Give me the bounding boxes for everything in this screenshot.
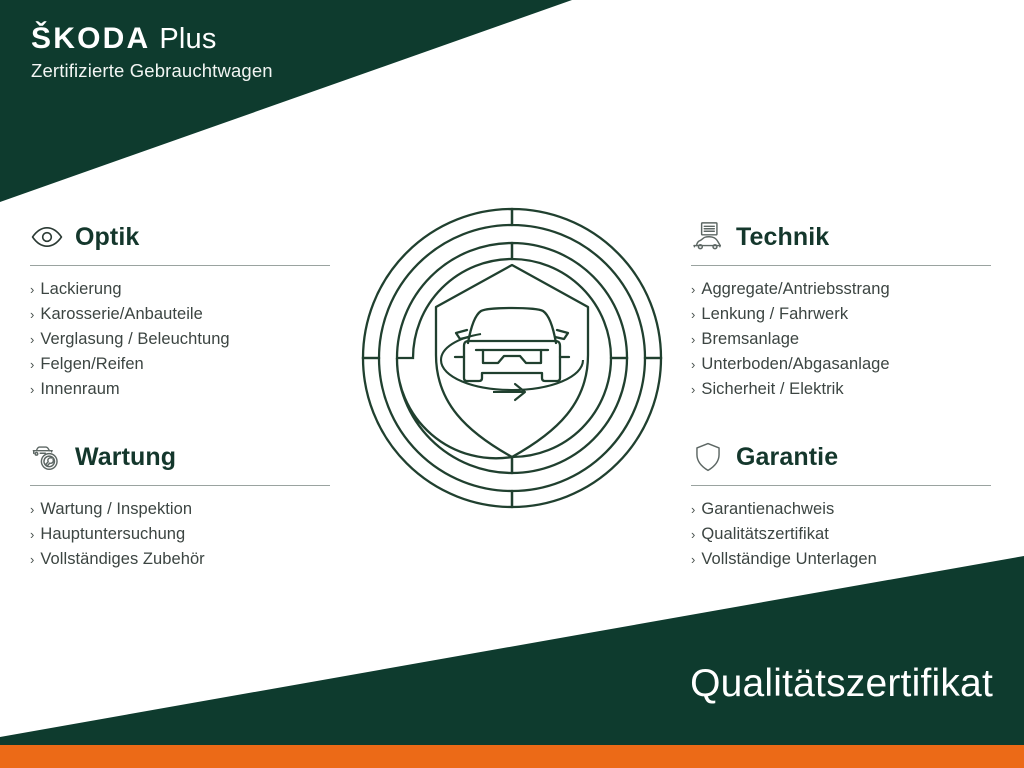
shield-icon xyxy=(691,440,725,474)
list-item: ›Innenraum xyxy=(30,377,333,402)
car-document-icon xyxy=(691,220,725,254)
list-item-label: Vollständiges Zubehör xyxy=(40,547,204,572)
section-title: Garantie xyxy=(736,445,838,470)
section-header: Optik xyxy=(30,216,333,258)
list-item: ›Aggregate/Antriebsstrang xyxy=(691,277,994,302)
list-item: ›Bremsanlage xyxy=(691,327,994,352)
chevron-right-icon: › xyxy=(691,522,695,547)
certified-vehicle-emblem xyxy=(352,198,672,518)
chevron-right-icon: › xyxy=(691,547,695,572)
section-garantie: Garantie ›Garantienachweis ›Qualitätszer… xyxy=(691,436,994,572)
chevron-right-icon: › xyxy=(30,497,34,522)
list-item-label: Qualitätszertifikat xyxy=(701,522,829,547)
orange-footer-bar xyxy=(0,745,1024,768)
section-list: ›Garantienachweis ›Qualitätszertifikat ›… xyxy=(691,497,994,572)
brand-wordmark-row: ŠKODA Plus xyxy=(31,24,273,54)
list-item-label: Unterboden/Abgasanlage xyxy=(701,352,889,377)
list-item: ›Felgen/Reifen xyxy=(30,352,333,377)
section-divider xyxy=(30,265,330,266)
list-item-label: Wartung / Inspektion xyxy=(40,497,192,522)
chevron-right-icon: › xyxy=(691,377,695,402)
list-item-label: Felgen/Reifen xyxy=(40,352,143,377)
list-item: ›Qualitätszertifikat xyxy=(691,522,994,547)
list-item-label: Lenkung / Fahrwerk xyxy=(701,302,848,327)
list-item: ›Hauptuntersuchung xyxy=(30,522,333,547)
chevron-right-icon: › xyxy=(691,277,695,302)
section-header: Technik xyxy=(691,216,994,258)
section-title: Optik xyxy=(75,225,139,250)
list-item-label: Innenraum xyxy=(40,377,119,402)
chevron-right-icon: › xyxy=(691,352,695,377)
chevron-right-icon: › xyxy=(30,277,34,302)
car-wrench-icon xyxy=(30,440,64,474)
section-technik: Technik ›Aggregate/Antriebsstrang ›Lenku… xyxy=(691,216,994,402)
list-item-label: Aggregate/Antriebsstrang xyxy=(701,277,889,302)
section-divider xyxy=(691,265,991,266)
brand-logo: ŠKODA Plus Zertifizierte Gebrauchtwagen xyxy=(31,24,273,81)
list-item-label: Vollständige Unterlagen xyxy=(701,547,876,572)
list-item: ›Garantienachweis xyxy=(691,497,994,522)
section-title: Wartung xyxy=(75,445,176,470)
section-header: Wartung xyxy=(30,436,333,478)
chevron-right-icon: › xyxy=(691,497,695,522)
section-list: ›Aggregate/Antriebsstrang ›Lenkung / Fah… xyxy=(691,277,994,402)
section-header: Garantie xyxy=(691,436,994,478)
section-title: Technik xyxy=(736,225,829,250)
chevron-right-icon: › xyxy=(30,352,34,377)
list-item-label: Hauptuntersuchung xyxy=(40,522,185,547)
list-item-label: Garantienachweis xyxy=(701,497,834,522)
list-item-label: Lackierung xyxy=(40,277,121,302)
section-divider xyxy=(691,485,991,486)
section-list: ›Wartung / Inspektion ›Hauptuntersuchung… xyxy=(30,497,333,572)
list-item: ›Lackierung xyxy=(30,277,333,302)
section-list: ›Lackierung ›Karosserie/Anbauteile ›Verg… xyxy=(30,277,333,402)
chevron-right-icon: › xyxy=(30,522,34,547)
list-item-label: Verglasung / Beleuchtung xyxy=(40,327,229,352)
list-item: ›Sicherheit / Elektrik xyxy=(691,377,994,402)
list-item: ›Lenkung / Fahrwerk xyxy=(691,302,994,327)
list-item: ›Karosserie/Anbauteile xyxy=(30,302,333,327)
eye-icon xyxy=(30,220,64,254)
brand-suffix: Plus xyxy=(159,25,216,54)
section-wartung: Wartung ›Wartung / Inspektion ›Hauptunte… xyxy=(30,436,333,572)
chevron-right-icon: › xyxy=(30,547,34,572)
chevron-right-icon: › xyxy=(30,302,34,327)
section-optik: Optik ›Lackierung ›Karosserie/Anbauteile… xyxy=(30,216,333,402)
list-item: ›Unterboden/Abgasanlage xyxy=(691,352,994,377)
list-item: ›Vollständige Unterlagen xyxy=(691,547,994,572)
list-item: ›Wartung / Inspektion xyxy=(30,497,333,522)
brand-tagline: Zertifizierte Gebrauchtwagen xyxy=(31,60,273,81)
list-item: ›Vollständiges Zubehör xyxy=(30,547,333,572)
chevron-right-icon: › xyxy=(30,377,34,402)
chevron-right-icon: › xyxy=(691,327,695,352)
section-divider xyxy=(30,485,330,486)
page-title: Qualitätszertifikat xyxy=(690,664,993,703)
brand-name: ŠKODA xyxy=(31,24,150,54)
chevron-right-icon: › xyxy=(691,302,695,327)
list-item-label: Sicherheit / Elektrik xyxy=(701,377,843,402)
certificate-page: ŠKODA Plus Zertifizierte Gebrauchtwagen … xyxy=(0,0,1024,768)
list-item-label: Bremsanlage xyxy=(701,327,799,352)
chevron-right-icon: › xyxy=(30,327,34,352)
list-item-label: Karosserie/Anbauteile xyxy=(40,302,202,327)
list-item: ›Verglasung / Beleuchtung xyxy=(30,327,333,352)
